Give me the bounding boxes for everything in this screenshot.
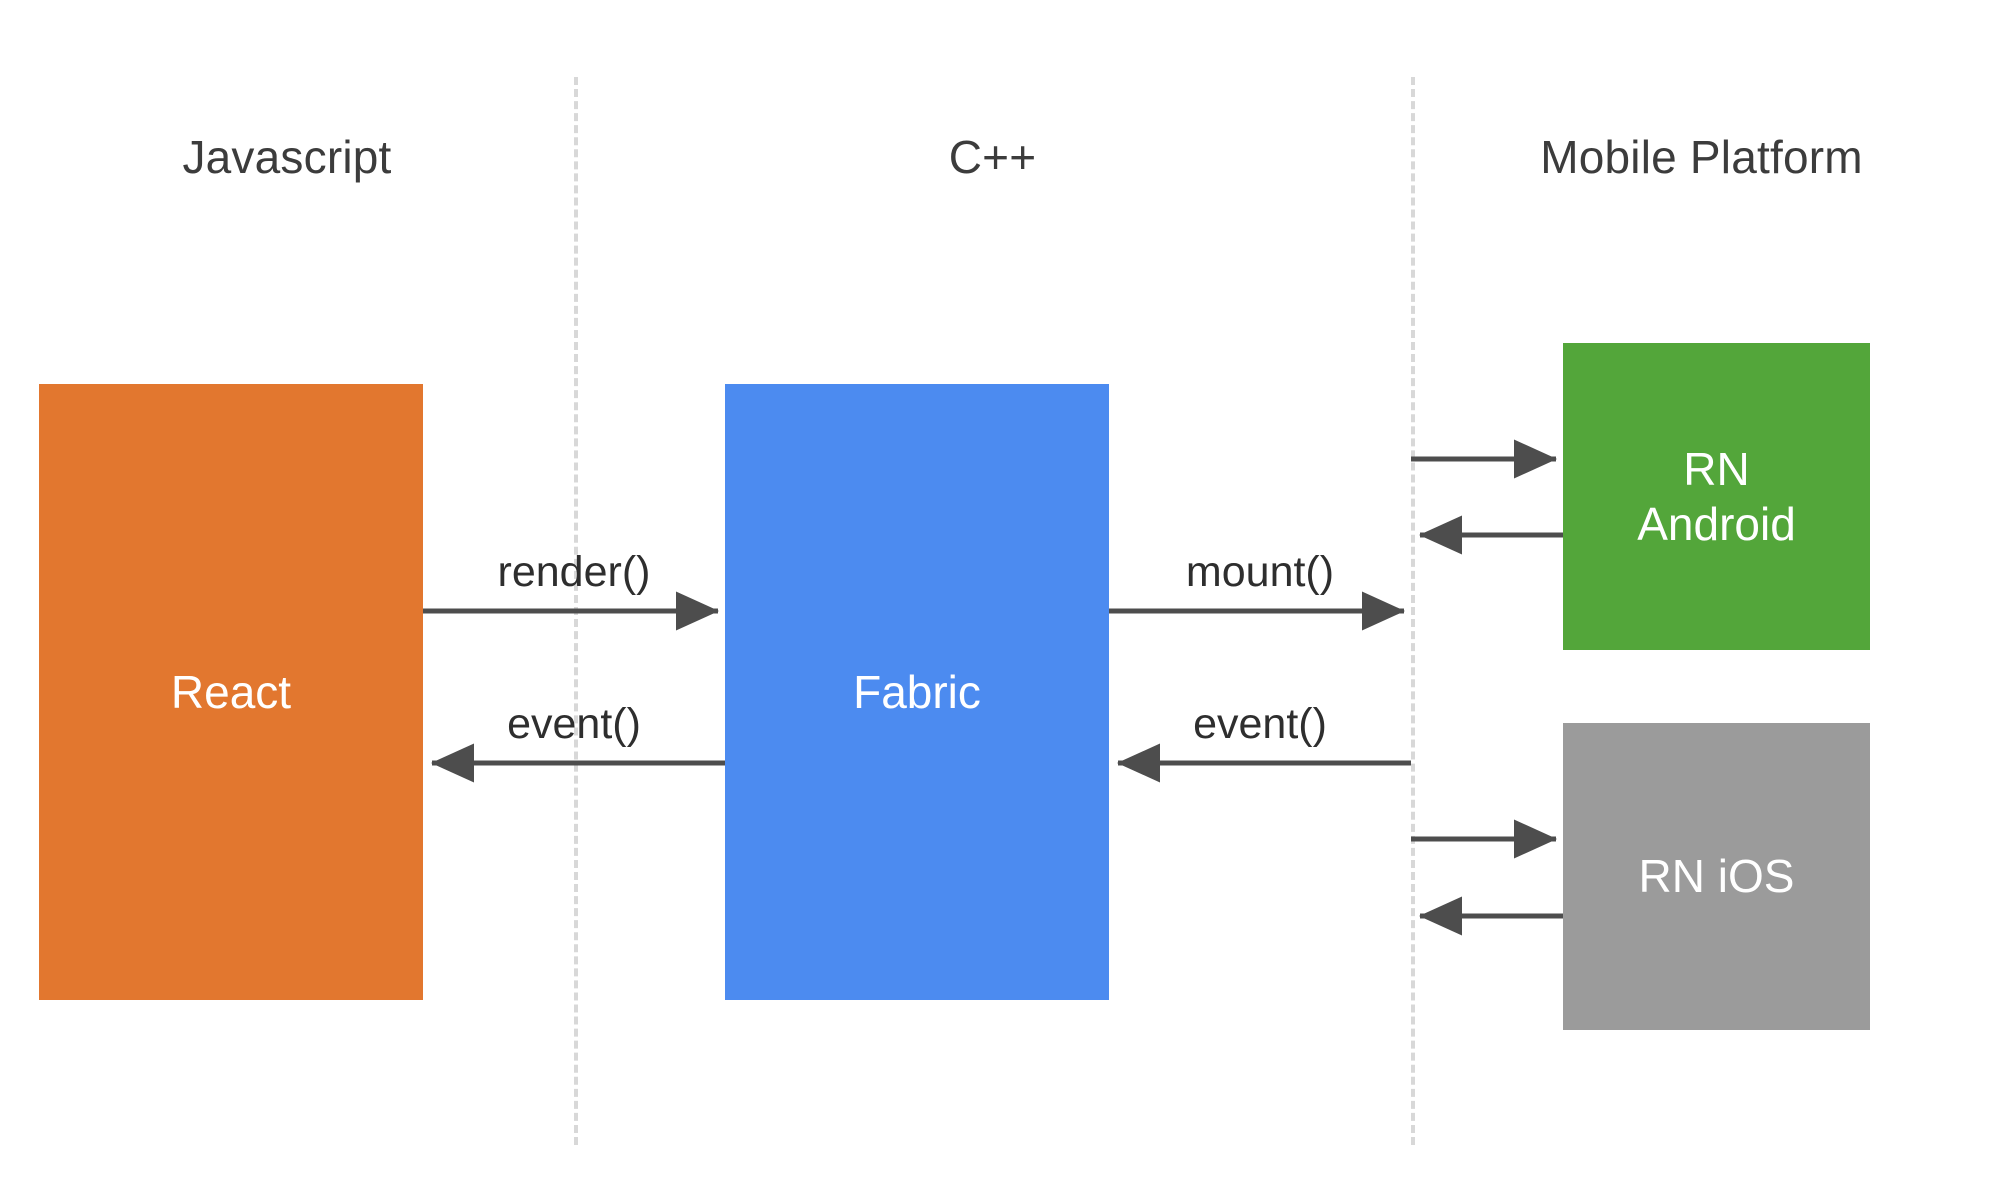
diagram-canvas: Javascript C++ Mobile Platform [0,0,1992,1192]
node-react[interactable]: React [39,384,423,1000]
node-rn-android-label-line1: RN [1683,443,1749,495]
node-rn-android-label: RN Android [1637,442,1796,551]
node-rn-android-label-line2: Android [1637,498,1796,550]
column-divider-javascript-cpp [574,77,578,1145]
node-rn-android[interactable]: RN Android [1563,343,1870,650]
node-fabric-label: Fabric [853,665,981,719]
node-rn-ios-label: RN iOS [1639,849,1795,903]
column-header-cpp: C++ [574,130,1411,184]
edge-label-render: render() [423,548,725,597]
edge-label-event-left: event() [423,700,725,749]
column-divider-cpp-mobile [1411,77,1415,1145]
column-header-javascript: Javascript [0,130,574,184]
node-react-label: React [171,665,291,719]
column-header-mobile-platform: Mobile Platform [1411,130,1992,184]
edge-label-mount: mount() [1109,548,1411,597]
edge-label-event-right: event() [1109,700,1411,749]
node-fabric[interactable]: Fabric [725,384,1109,1000]
node-rn-ios[interactable]: RN iOS [1563,723,1870,1030]
